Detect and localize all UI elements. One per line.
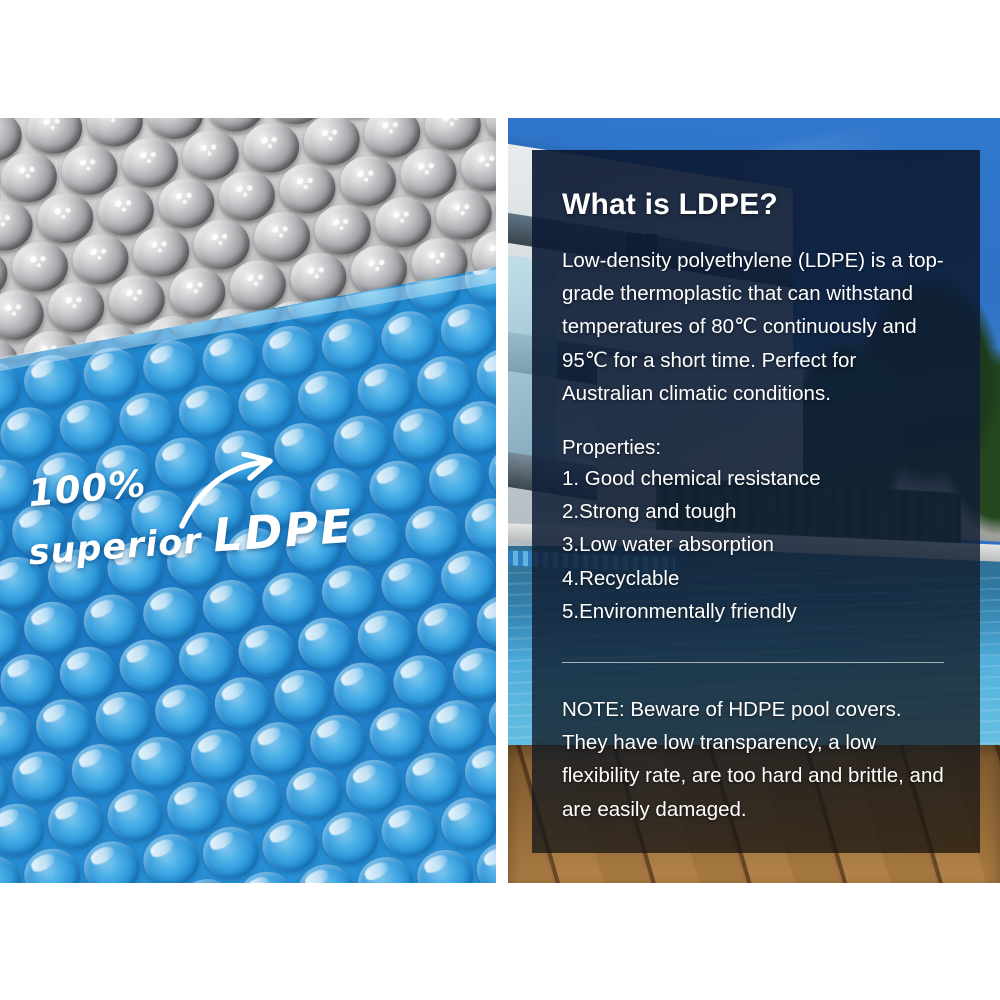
bubble-dome — [295, 614, 357, 672]
bubble-dome — [45, 793, 107, 851]
bubble-dome — [116, 636, 178, 694]
bubble-dome — [176, 629, 238, 687]
bubble-dome — [319, 562, 381, 620]
bubble-dome — [319, 315, 381, 373]
bubble-dome — [414, 600, 476, 658]
left-panel-bubble-cover: 100% superiorLDPE — [0, 118, 496, 883]
list-item: 1. Good chemical resistance — [562, 462, 950, 495]
bubble-dome — [128, 487, 190, 545]
bubble-dome — [450, 398, 496, 456]
bubble-dome — [283, 764, 345, 822]
bubble-dome — [247, 719, 309, 777]
bubble-dome — [402, 502, 464, 560]
properties-title: Properties: — [562, 436, 950, 460]
bubble-dome — [188, 726, 250, 784]
bubble-dome — [212, 427, 274, 485]
bubble-dome — [259, 569, 321, 627]
bubble-dome — [0, 651, 59, 709]
bubble-dome — [200, 577, 262, 635]
bubble-dome — [462, 495, 496, 553]
bubble-dome — [331, 659, 393, 717]
bubble-dome — [367, 704, 429, 762]
bubble-dome — [164, 532, 226, 590]
bubble-dome — [343, 757, 405, 815]
bubble-dome — [140, 584, 202, 642]
bubble-dome — [140, 337, 202, 395]
bubble-dome — [295, 368, 357, 426]
bubble-dome — [271, 667, 333, 725]
bubble-dome — [438, 547, 496, 605]
bubble-dome — [366, 457, 428, 515]
bubble-dome — [426, 697, 488, 755]
bubble-dome — [378, 555, 440, 613]
bubble-dome — [450, 645, 496, 703]
bubble-dome — [33, 449, 95, 507]
bubble-dome — [69, 741, 131, 799]
bubble-dome — [128, 734, 190, 792]
bubble-dome — [259, 323, 321, 381]
bubble-dome — [235, 375, 297, 433]
bubble-dome — [188, 479, 250, 537]
bubble-dome — [33, 696, 95, 754]
bubble-dome — [247, 472, 309, 530]
bubble-dome — [283, 517, 345, 575]
card-intro-paragraph: Low-density polyethylene (LDPE) is a top… — [562, 244, 950, 410]
bubble-dome — [81, 591, 143, 649]
bubble-dome — [378, 802, 440, 860]
bubble-dome — [176, 382, 238, 440]
info-card: What is LDPE? Low-density polyethylene (… — [532, 150, 980, 853]
list-item: 2.Strong and tough — [562, 495, 950, 528]
bubble-dome — [426, 450, 488, 508]
bubble-dome — [319, 809, 381, 867]
bubble-dome — [69, 494, 131, 552]
card-divider — [562, 662, 944, 663]
bubble-dome — [378, 308, 440, 366]
bubble-dome — [236, 622, 298, 680]
bubble-dome — [271, 420, 333, 478]
bubble-dome — [81, 838, 143, 883]
bubble-dome — [355, 607, 417, 665]
right-panel-pool-scene: What is LDPE? Low-density polyethylene (… — [508, 118, 1000, 883]
bubble-dome — [9, 748, 71, 806]
bubble-dome — [438, 301, 496, 359]
bubble-dome — [152, 681, 214, 739]
bubble-dome — [307, 712, 369, 770]
bubble-dome — [200, 330, 262, 388]
bubble-dome — [93, 442, 155, 500]
bubble-dome — [331, 412, 393, 470]
bubble-dome — [93, 689, 155, 747]
bubble-dome — [200, 824, 262, 882]
bubble-dome — [402, 749, 464, 807]
bubble-dome — [164, 779, 226, 837]
infographic-stage: 100% superiorLDPE What is LDPE? — [0, 0, 1000, 1000]
bubble-dome — [57, 644, 119, 702]
bubble-dome — [224, 771, 286, 829]
card-heading: What is LDPE? — [562, 188, 950, 222]
bubble-dome — [307, 465, 369, 523]
bubble-dome — [259, 816, 321, 874]
bubble-dome — [21, 599, 83, 657]
card-note: NOTE: Beware of HDPE pool covers. They h… — [562, 693, 950, 826]
list-item: 4.Recyclable — [562, 562, 950, 595]
bubble-dome — [462, 742, 496, 800]
bubble-dome — [390, 652, 452, 710]
bubble-dome — [140, 831, 202, 883]
list-item: 3.Low water absorption — [562, 528, 950, 561]
bubble-dome — [45, 546, 107, 604]
bubble-dome — [152, 434, 214, 492]
list-item: 5.Environmentally friendly — [562, 595, 950, 628]
bubble-dome — [9, 501, 71, 559]
bubble-dome — [355, 360, 417, 418]
bubble-dome — [224, 524, 286, 582]
bubble-dome — [105, 786, 167, 844]
bubble-dome — [343, 510, 405, 568]
bubble-dome — [0, 853, 24, 883]
bubble-dome — [212, 674, 274, 732]
bubble-dome — [438, 794, 496, 852]
bubble-dome — [0, 404, 59, 462]
bubble-dome — [104, 539, 166, 597]
bubble-dome — [116, 389, 178, 447]
properties-list: 1. Good chemical resistance 2.Strong and… — [562, 462, 950, 628]
bubble-dome — [57, 397, 119, 455]
bubble-dome — [414, 353, 476, 411]
bubble-dome — [390, 405, 452, 463]
